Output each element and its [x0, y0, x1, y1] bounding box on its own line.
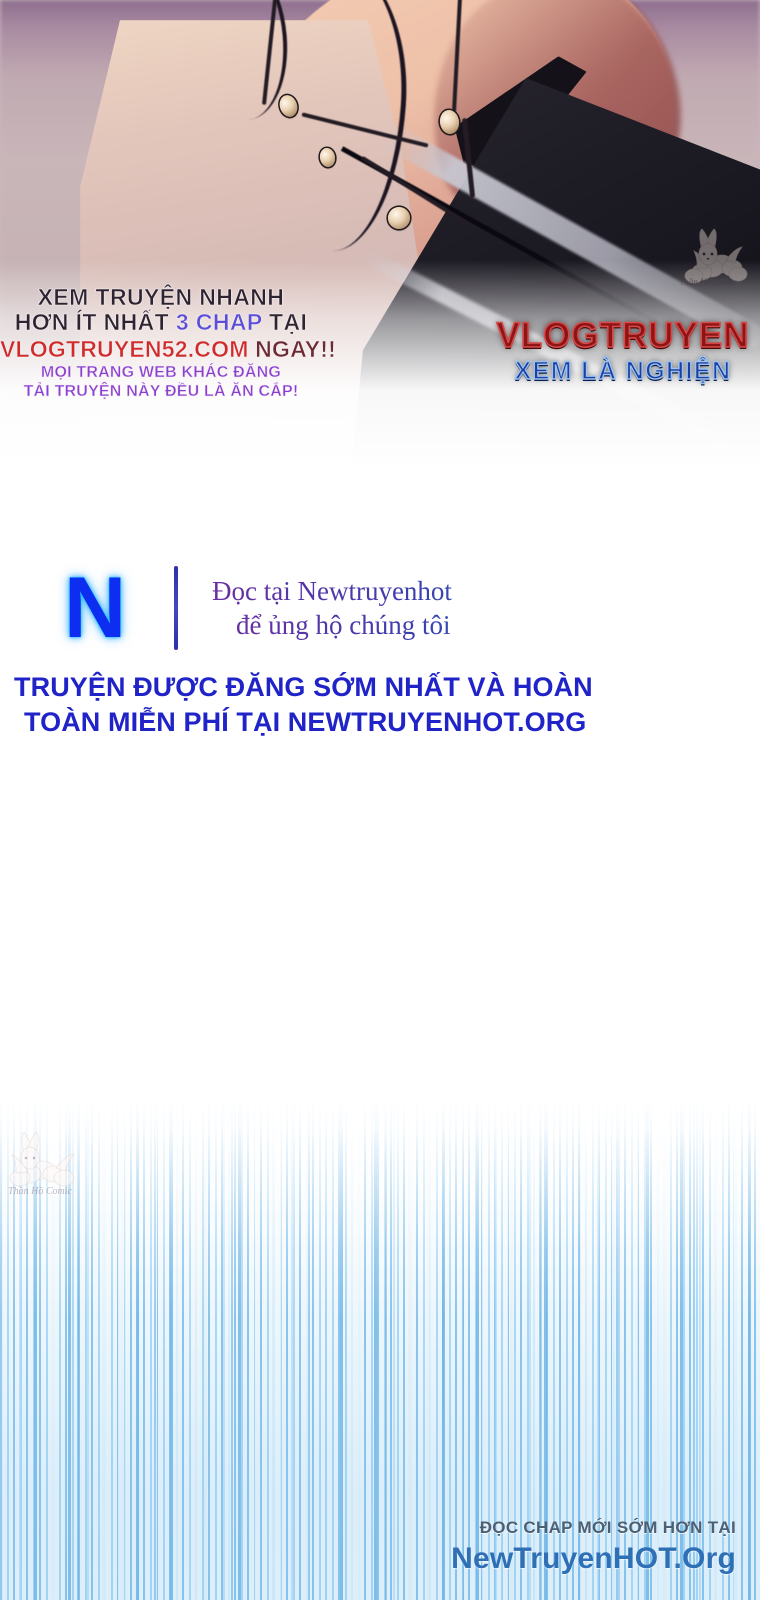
promo-banner-line-1: TRUYỆN ĐƯỢC ĐĂNG SỚM NHẤT VÀ HOÀN — [14, 670, 760, 705]
promo-tagline-line-1: Đọc tại Newtruyenhot — [212, 574, 760, 608]
speedline-top-fade — [0, 1098, 760, 1318]
footer-line-1: ĐỌC CHAP MỚI SỚM HƠN TẠI — [0, 1518, 736, 1538]
watermark-line-4: MỌI TRANG WEB KHÁC ĐĂNG — [0, 365, 322, 381]
promo-divider — [174, 566, 178, 650]
promo-tagline: Đọc tại Newtruyenhot để ủng hộ chúng tôi — [212, 574, 760, 642]
footer-credit: ĐỌC CHAP MỚI SỚM HƠN TẠI NewTruyenHOT.Or… — [0, 1518, 760, 1576]
watermark-line-2: HƠN ÍT NHẤT 3 CHAP TẠI — [0, 311, 322, 334]
shirt-button — [388, 207, 410, 229]
footer-site-name: NewTruyenHOT.Org — [0, 1542, 736, 1576]
vlogtruyen-watermark-text: XEM TRUYỆN NHANH HƠN ÍT NHẤT 3 CHAP TẠI … — [0, 286, 322, 400]
promo-tagline-line-2: để ủng hộ chúng tôi — [212, 608, 760, 642]
watermark-line-2-prefix: HƠN ÍT NHẤT — [15, 309, 176, 335]
watermark-site-url: VLOGTRUYEN52.COM — [0, 336, 249, 362]
comic-page: Thần Hồ Comic XEM TRUYỆN NHANH HƠN ÍT NH… — [0, 0, 760, 1600]
promo-logo-row: N Đọc tại Newtruyenhot để ủng hộ chúng t… — [0, 560, 760, 656]
vlogtruyen-logo-main: VLOGTRUYEN — [478, 316, 760, 356]
promo-banner-line-2: TOÀN MIỄN PHÍ TẠI NEWTRUYENHOT.ORG — [14, 705, 760, 740]
watermark-line-1: XEM TRUYỆN NHANH — [0, 286, 322, 309]
watermark-line-2-suffix: TẠI — [262, 309, 307, 335]
newtruyenhot-n-logo: N — [40, 560, 148, 656]
vlogtruyen-logo-slogan: XEM LÀ NGHIỆN — [478, 357, 760, 386]
vlogtruyen-logo: VLOGTRUYEN XEM LÀ NGHIỆN — [478, 316, 760, 386]
newtruyenhot-logo-letter: N — [64, 565, 124, 651]
newtruyenhot-promo-block: N Đọc tại Newtruyenhot để ủng hộ chúng t… — [0, 560, 760, 740]
watermark-line-5: TẢI TRUYỆN NÀY ĐỀU LÀ ĂN CẮP! — [0, 384, 322, 400]
watermark-site-line: VLOGTRUYEN52.COM NGAY!! — [0, 338, 322, 361]
watermark-site-tail: NGAY!! — [249, 336, 336, 362]
watermark-chap-highlight: 3 CHAP — [176, 309, 262, 335]
promo-banner: TRUYỆN ĐƯỢC ĐĂNG SỚM NHẤT VÀ HOÀN TOÀN M… — [0, 670, 760, 740]
